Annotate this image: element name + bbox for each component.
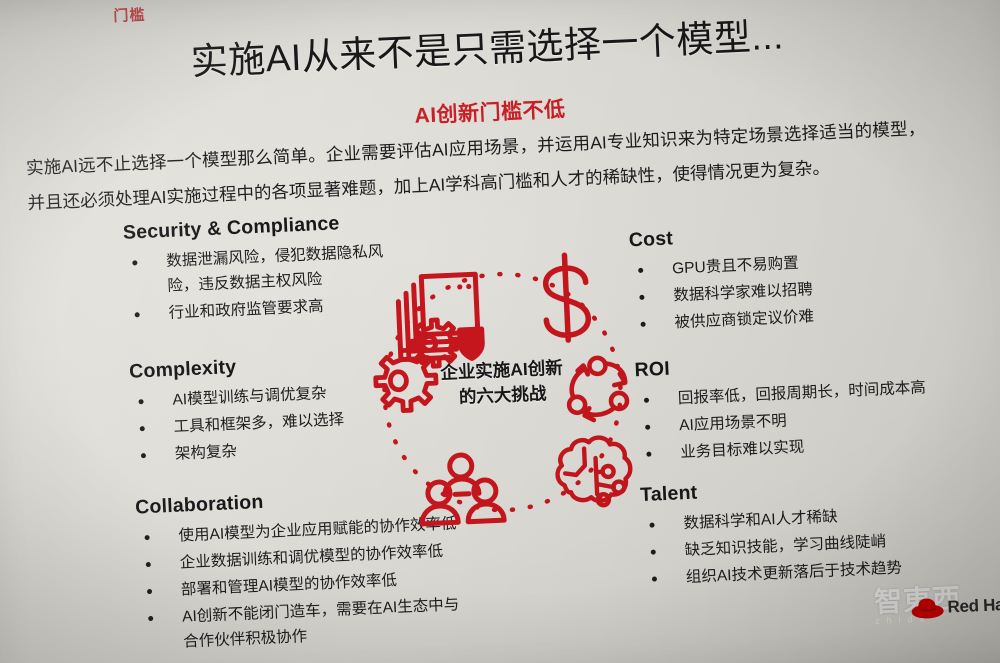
documents-shield-icon xyxy=(397,274,483,362)
bullet-list: 回报率低，回报周期长，时间成本高 AI应用场景不明 业务目标难以实现 xyxy=(635,375,938,467)
section-talent: Talent 数据科学和AI人才稀缺 缺乏知识技能，学习曲线陡峭 组织AI技术更… xyxy=(640,471,945,594)
section-cost: Cost GPU贵且不易购置 数据科学家难以招聘 被供应商锁定议价难 xyxy=(628,216,933,339)
bullet-list: 数据科学和AI人才稀缺 缺乏知识技能，学习曲线陡峭 组织AI技术更新落后于技术趋… xyxy=(641,500,944,592)
photographed-slide: 门槛 实施AI从来不是只需选择一个模型... AI创新门槛不低 实施AI远不止选… xyxy=(0,0,1000,663)
bullet-list: GPU贵且不易购置 数据科学家难以招聘 被供应商锁定议价难 xyxy=(630,245,933,337)
people-group-icon xyxy=(419,453,504,524)
brain-circuit-icon xyxy=(556,436,632,507)
red-hat-fedora-icon xyxy=(910,595,945,622)
section-heading: Security & Compliance xyxy=(123,210,394,245)
cut-off-header-text: 门槛 xyxy=(113,4,146,26)
red-hat-logo: Red Hat xyxy=(910,592,1000,622)
six-challenges-diagram: 企业实施AI创新 的六大挑战 xyxy=(346,234,659,557)
red-hat-wordmark: Red Hat xyxy=(947,595,1000,618)
dollar-sign-icon xyxy=(543,254,589,341)
section-roi: ROI 回报率低，回报周期长，时间成本高 AI应用场景不明 业务目标难以实现 xyxy=(634,346,939,469)
presentation-slide: 门槛 实施AI从来不是只需选择一个模型... AI创新门槛不低 实施AI远不止选… xyxy=(0,0,1000,663)
